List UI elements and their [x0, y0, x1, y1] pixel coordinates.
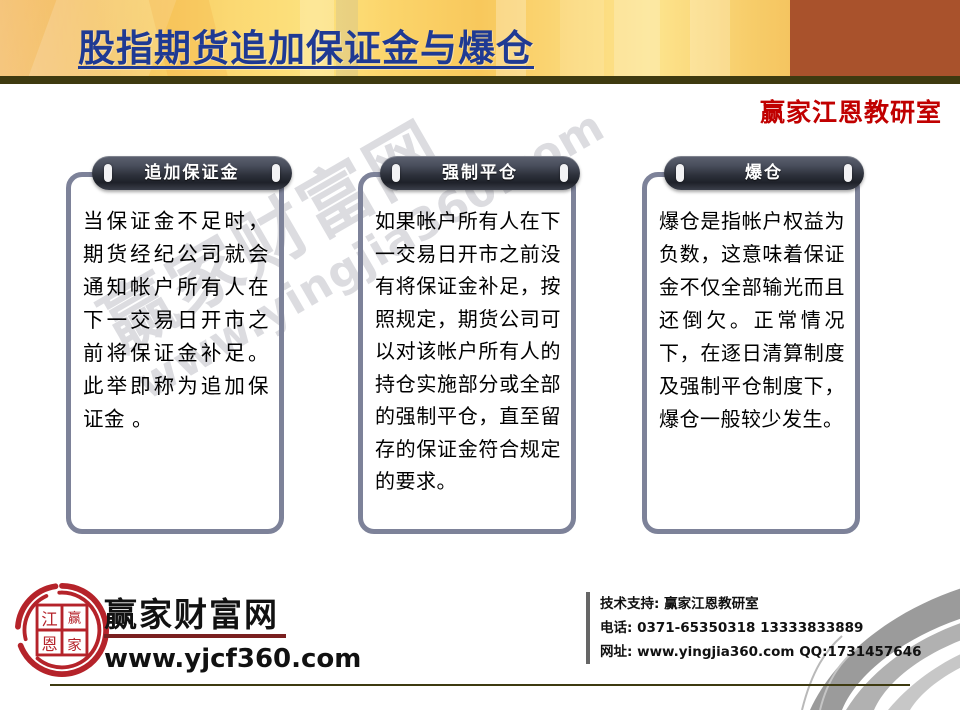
card-body-1: 当保证金不足时，期货经纪公司就会通知帐户所有人在下一交易日开市之前将保证金补足。…: [83, 205, 269, 436]
company-seal-icon: 江 赢 恩 家: [14, 582, 110, 678]
svg-text:江: 江: [41, 610, 57, 629]
brand-underline: [104, 634, 286, 638]
brand-name: 赢家财富网: [104, 588, 279, 636]
card-header-pill-3: 爆仓: [664, 156, 864, 190]
card-frame-2: 如果帐户所有人在下一交易日开市之前没有将保证金补足，按照规定，期货公司可以对该帐…: [358, 172, 576, 534]
slide-canvas: 股指期货追加保证金与爆仓 赢家江恩教研室 赢家财富网 www.yingjia36…: [0, 0, 960, 720]
contact-info: 技术支持: 赢家江恩教研室 电话: 0371-65350318 13333833…: [600, 592, 921, 664]
brand-url[interactable]: www.yjcf360.com: [104, 644, 361, 674]
card-header-pill-1: 追加保证金: [92, 156, 292, 190]
svg-text:家: 家: [67, 637, 81, 654]
svg-text:赢: 赢: [68, 609, 81, 626]
contact-phone-line: 电话: 0371-65350318 13333833889: [600, 616, 921, 640]
contact-website-line: 网址: www.yingjia360.com QQ:1731457646: [600, 640, 921, 664]
card-header-label-3: 爆仓: [664, 156, 864, 190]
contact-support-line: 技术支持: 赢家江恩教研室: [600, 592, 921, 616]
footer-divider: [50, 684, 910, 686]
card-body-3: 爆仓是指帐户权益为负数，这意味着保证金不仅全部输光而且还倒欠。正常情况下，在逐日…: [659, 205, 845, 436]
card-header-label-1: 追加保证金: [92, 156, 292, 190]
card-frame-1: 当保证金不足时，期货经纪公司就会通知帐户所有人在下一交易日开市之前将保证金补足。…: [66, 172, 284, 534]
card-body-2: 如果帐户所有人在下一交易日开市之前没有将保证金补足，按照规定，期货公司可以对该帐…: [375, 205, 561, 498]
card-frame-3: 爆仓是指帐户权益为负数，这意味着保证金不仅全部输光而且还倒欠。正常情况下，在逐日…: [642, 172, 860, 534]
card-header-pill-2: 强制平仓: [380, 156, 580, 190]
svg-text:恩: 恩: [41, 635, 57, 654]
card-header-label-2: 强制平仓: [380, 156, 580, 190]
contact-accent-bar: [586, 592, 590, 664]
